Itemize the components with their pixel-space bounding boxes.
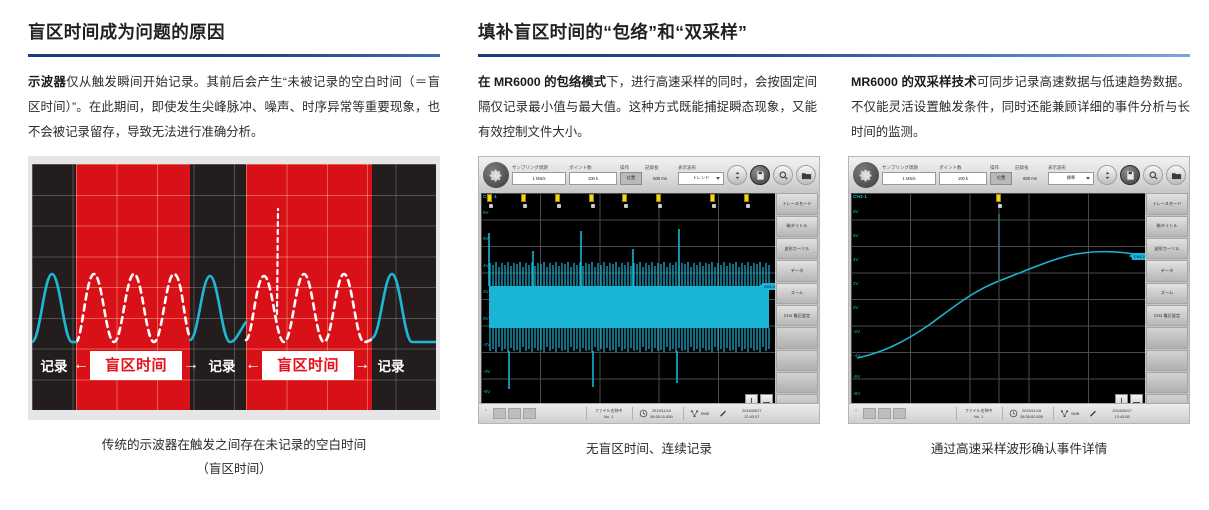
page-root: 盲区时间成为问题的原因 示波器仅从触发瞬间开始记录。其前后会产生“未被记录的空白… bbox=[0, 0, 1209, 510]
arrow-left-icon: ← bbox=[72, 356, 90, 374]
side-button-empty[interactable] bbox=[776, 327, 818, 348]
save-icon[interactable] bbox=[750, 165, 770, 185]
point-count-field[interactable]: ポイント数 100 k bbox=[569, 166, 617, 184]
side-button-ch1-voltage[interactable]: CH1 電圧設定 bbox=[776, 305, 818, 326]
left-heading-rule bbox=[28, 54, 440, 57]
display-waveform-field[interactable]: 表示波形 トレンド bbox=[678, 166, 724, 184]
display-waveform-field[interactable]: 表示波形 標準 bbox=[1048, 166, 1094, 184]
folder-icon[interactable] bbox=[1166, 165, 1186, 185]
status-time-value: 08:35:52.639 bbox=[1020, 414, 1043, 420]
status-network-label: SMB bbox=[1071, 411, 1079, 417]
status-divider bbox=[632, 407, 633, 420]
dual-waveform bbox=[851, 193, 1147, 405]
diagram-label-row: 记录 ← 盲区时间 → 记录 ← 盲区时间 → 记录 bbox=[32, 348, 436, 382]
pen-icon[interactable] bbox=[719, 409, 728, 418]
side-button-wave-cursor[interactable]: 波形カーソル bbox=[1146, 238, 1188, 259]
status-divider bbox=[586, 407, 587, 420]
display-waveform-select[interactable]: 標準 bbox=[1048, 172, 1094, 185]
side-button-wave-cursor[interactable]: 波形カーソル bbox=[776, 238, 818, 259]
status-datetime: 2019/11/15 08:35:11.859 bbox=[650, 408, 672, 419]
status-pads bbox=[863, 408, 906, 419]
clock-icon bbox=[639, 409, 648, 418]
status-file-value: No. 1 bbox=[965, 414, 992, 420]
blind-time-diagram: 记录 ← 盲区时间 → 记录 ← 盲区时间 → 记录 bbox=[28, 156, 440, 420]
sampling-period-field[interactable]: サンプリング周期 1 MS/s bbox=[882, 166, 936, 184]
left-column: 盲区时间成为问题的原因 示波器仅从触发瞬间开始记录。其前后会产生“未被记录的空白… bbox=[28, 0, 440, 481]
side-button-zoom[interactable]: ズーム bbox=[1146, 283, 1188, 304]
pen-icon[interactable] bbox=[1089, 409, 1098, 418]
point-count-value[interactable]: 100 k bbox=[939, 172, 987, 185]
search-icon[interactable] bbox=[1143, 165, 1163, 185]
clock-icon bbox=[1009, 409, 1018, 418]
record-length-label: 記録長 bbox=[1015, 166, 1053, 171]
left-caption-line1: 传统的示波器在触发之间存在未记录的空白时间 bbox=[28, 434, 440, 457]
cursor-icon[interactable] bbox=[1189, 165, 1190, 185]
event-marker[interactable] bbox=[555, 194, 560, 202]
scope-toolbar: サンプリング周期 1 MS/s ポイント数 100 k 操作 位置 記録長 bbox=[849, 157, 1190, 193]
status-timestamp: 2019/05/27 12:43:55 bbox=[1112, 408, 1131, 419]
side-button-trace-mode[interactable]: トレースモード bbox=[776, 193, 818, 214]
scope-graph-dual[interactable]: CH1-1 8V 6V 4V 2V 0V -2V -4V -6V -8V bbox=[851, 193, 1147, 405]
scope-side-menu-envelope: トレースモード 軸タイトル 波形カーソル データ ズーム CH1 電圧設定 bbox=[775, 193, 819, 416]
arrow-right-icon: → bbox=[354, 356, 370, 374]
record-length-field: 記録長 600 ms bbox=[645, 166, 675, 184]
status-pad[interactable] bbox=[893, 408, 906, 419]
scope-side-menu-dual: トレースモード 軸タイトル 波形カーソル データ ズーム CH1 電圧設定 bbox=[1145, 193, 1189, 416]
record-length-label: 記録長 bbox=[645, 166, 683, 171]
side-button-ch1-voltage[interactable]: CH1 電圧設定 bbox=[1146, 305, 1188, 326]
cursor-icon[interactable] bbox=[819, 165, 820, 185]
right-heading: 填补盲区时间的“包络”和“双采样” bbox=[478, 0, 1190, 43]
operation-field[interactable]: 操作 位置 bbox=[620, 166, 642, 184]
left-heading: 盲区时间成为问题的原因 bbox=[28, 0, 440, 43]
right-body-col2: MR6000 的双采样技术可同步记录高速数据与低速趋势数据。不仅能灵活设置触发条… bbox=[851, 70, 1190, 144]
point-count-value[interactable]: 100 k bbox=[569, 172, 617, 185]
status-pad[interactable] bbox=[493, 408, 506, 419]
dual-sampling-shot: サンプリング周期 1 MS/s ポイント数 100 k 操作 位置 記録長 bbox=[848, 156, 1190, 461]
right-body-col1: 在 MR6000 的包络模式下，进行高速采样的同时，会按固定间隔仅记录最小值与最… bbox=[478, 70, 817, 144]
record-length-field: 記録長 600 ms bbox=[1015, 166, 1045, 184]
status-time-value: 08:35:11.859 bbox=[650, 414, 672, 420]
scope-envelope: サンプリング周期 1 MS/s ポイント数 100 k 操作 位置 記録長 bbox=[478, 156, 820, 424]
status-divider bbox=[956, 407, 957, 420]
side-button-empty[interactable] bbox=[1146, 327, 1188, 348]
folder-icon[interactable] bbox=[796, 165, 816, 185]
blind-time-label: 盲区时间 bbox=[90, 351, 182, 380]
chevron-up-icon[interactable]: ＾ bbox=[479, 409, 493, 419]
side-button-empty[interactable] bbox=[776, 372, 818, 393]
left-body-rest: 仅从触发瞬间开始记录。其前后会产生“未被记录的空白时间（＝盲区时间）”。在此期间… bbox=[28, 75, 440, 139]
network-icon bbox=[1060, 409, 1069, 418]
display-waveform-label: 表示波形 bbox=[678, 166, 736, 171]
scope-dual: サンプリング周期 1 MS/s ポイント数 100 k 操作 位置 記録長 bbox=[848, 156, 1190, 424]
status-divider bbox=[683, 407, 684, 420]
event-marker[interactable] bbox=[622, 194, 627, 202]
side-button-empty[interactable] bbox=[1146, 372, 1188, 393]
sampling-period-value[interactable]: 1 MS/s bbox=[882, 172, 936, 185]
col2-lead: MR6000 的双采样技术 bbox=[851, 75, 977, 89]
status-pad[interactable] bbox=[508, 408, 521, 419]
operation-label: 操作 bbox=[620, 166, 648, 171]
operation-field[interactable]: 操作 位置 bbox=[990, 166, 1012, 184]
status-pads bbox=[493, 408, 536, 419]
left-caption: 传统的示波器在触发之间存在未记录的空白时间 （盲区时间） bbox=[28, 434, 440, 481]
left-caption-line2: （盲区时间） bbox=[28, 458, 440, 481]
record-label: 记录 bbox=[32, 355, 76, 375]
side-button-data[interactable]: データ bbox=[776, 260, 818, 281]
col1-lead: 在 MR6000 的包络模式 bbox=[478, 75, 606, 89]
status-divider bbox=[1053, 407, 1054, 420]
operation-value[interactable]: 位置 bbox=[620, 172, 642, 185]
event-marker[interactable] bbox=[996, 194, 1001, 202]
network-icon bbox=[690, 409, 699, 418]
record-length-value: 600 ms bbox=[645, 172, 675, 185]
right-heading-rule bbox=[478, 54, 1190, 57]
status-divider bbox=[1002, 407, 1003, 420]
right-column: 填补盲区时间的“包络”和“双采样” 在 MR6000 的包络模式下，进行高速采样… bbox=[478, 0, 1190, 462]
status-timestamp: 2019/05/27 12:43:37 bbox=[742, 408, 761, 419]
gear-icon[interactable] bbox=[483, 162, 509, 188]
event-marker[interactable] bbox=[744, 194, 749, 202]
side-button-axis-title[interactable]: 軸タイトル bbox=[776, 216, 818, 237]
envelope-shot: サンプリング周期 1 MS/s ポイント数 100 k 操作 位置 記録長 bbox=[478, 156, 820, 461]
event-marker[interactable] bbox=[521, 194, 526, 202]
status-timestamp-time: 12:43:37 bbox=[742, 414, 761, 420]
record-label: 记录 bbox=[200, 355, 244, 375]
scope-toolbar: サンプリング周期 1 MS/s ポイント数 100 k 操作 位置 記録長 bbox=[479, 157, 820, 193]
save-icon[interactable] bbox=[1120, 165, 1140, 185]
gear-icon[interactable] bbox=[853, 162, 879, 188]
status-datetime: 2019/11/15 08:35:52.639 bbox=[1020, 408, 1043, 419]
arrow-right-icon: → bbox=[182, 356, 200, 374]
event-marker[interactable] bbox=[487, 194, 492, 202]
envelope-waveform bbox=[481, 193, 777, 405]
event-marker[interactable] bbox=[656, 194, 661, 202]
display-waveform-label: 表示波形 bbox=[1048, 166, 1106, 171]
dual-caption: 通过高速采样波形确认事件详情 bbox=[848, 438, 1190, 461]
side-button-data[interactable]: データ bbox=[1146, 260, 1188, 281]
diagram-canvas: 记录 ← 盲区时间 → 记录 ← 盲区时间 → 记录 bbox=[32, 164, 436, 410]
status-pad[interactable] bbox=[523, 408, 536, 419]
status-file-value: No. 1 bbox=[595, 414, 622, 420]
arrow-left-icon: ← bbox=[244, 356, 262, 374]
envelope-caption: 无盲区时间、连续记录 bbox=[478, 438, 820, 461]
scope-graph-envelope[interactable]: CH1-1 8V 6V 4V 2V 0V -2V -4V -6V bbox=[481, 193, 777, 405]
event-marker[interactable] bbox=[589, 194, 594, 202]
operation-value[interactable]: 位置 bbox=[990, 172, 1012, 185]
scope-status-bar-envelope: ＾ ファイル名称中 No. 1 bbox=[479, 403, 820, 423]
status-timestamp-time: 12:43:55 bbox=[1112, 414, 1131, 420]
side-button-trace-mode[interactable]: トレースモード bbox=[1146, 193, 1188, 214]
display-waveform-select[interactable]: トレンド bbox=[678, 172, 724, 185]
blind-time-label: 盲区时间 bbox=[262, 351, 354, 380]
scope-status-bar-dual: ＾ ファイル名称中 No. 1 bbox=[849, 403, 1190, 423]
event-marker[interactable] bbox=[710, 194, 715, 202]
status-network-label: SMB bbox=[701, 411, 709, 417]
search-icon[interactable] bbox=[773, 165, 793, 185]
status-file-info: ファイル名称中 No. 1 bbox=[595, 408, 622, 419]
sampling-period-value[interactable]: 1 MS/s bbox=[512, 172, 566, 185]
point-count-field[interactable]: ポイント数 100 k bbox=[939, 166, 987, 184]
right-text-columns: 在 MR6000 的包络模式下，进行高速采样的同时，会按固定间隔仅记录最小值与最… bbox=[478, 70, 1190, 144]
record-label: 记录 bbox=[370, 355, 412, 375]
chevron-up-icon[interactable]: ＾ bbox=[849, 409, 863, 419]
status-file-info: ファイル名称中 No. 1 bbox=[965, 408, 992, 419]
record-length-value: 600 ms bbox=[1015, 172, 1045, 185]
status-pad[interactable] bbox=[863, 408, 876, 419]
status-pad[interactable] bbox=[878, 408, 891, 419]
operation-label: 操作 bbox=[990, 166, 1018, 171]
scope-screenshots: サンプリング周期 1 MS/s ポイント数 100 k 操作 位置 記録長 bbox=[478, 156, 1190, 461]
sampling-period-field[interactable]: サンプリング周期 1 MS/s bbox=[512, 166, 566, 184]
side-button-empty[interactable] bbox=[776, 350, 818, 371]
side-button-axis-title[interactable]: 軸タイトル bbox=[1146, 216, 1188, 237]
side-button-empty[interactable] bbox=[1146, 350, 1188, 371]
side-button-zoom[interactable]: ズーム bbox=[776, 283, 818, 304]
left-body-lead: 示波器 bbox=[28, 75, 66, 89]
left-body-text: 示波器仅从触发瞬间开始记录。其前后会产生“未被记录的空白时间（＝盲区时间）”。在… bbox=[28, 70, 440, 144]
